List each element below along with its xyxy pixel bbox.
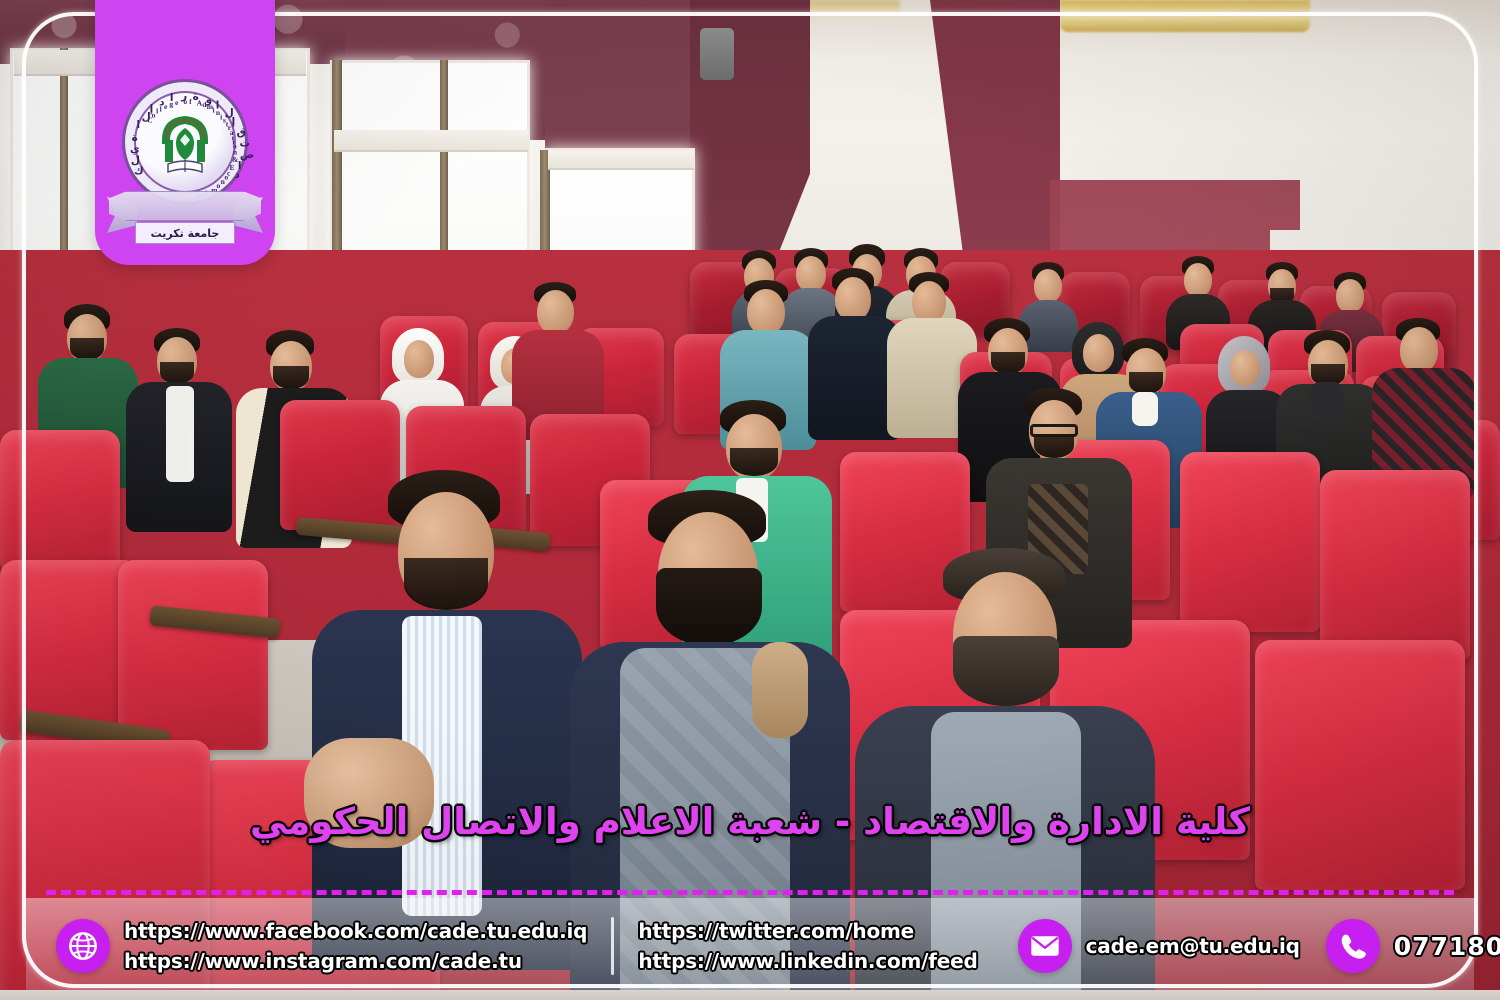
head xyxy=(835,277,871,321)
beard xyxy=(273,366,309,389)
head xyxy=(1400,327,1438,373)
footer-contact-bar: https://www.facebook.com/cade.tu.edu.iq … xyxy=(26,902,1474,990)
window-blind-2 xyxy=(334,130,528,152)
seat xyxy=(118,560,268,750)
facebook-url[interactable]: https://www.facebook.com/cade.tu.edu.iq xyxy=(124,919,587,943)
wall-speaker xyxy=(700,28,734,80)
head xyxy=(747,289,785,335)
collar xyxy=(1132,392,1158,426)
beard xyxy=(1129,372,1163,394)
social-links: https://www.facebook.com/cade.tu.edu.iq … xyxy=(124,919,587,973)
ceiling-light-fixture xyxy=(1060,0,1310,32)
footer-group-email: cade.em@tu.edu.iq xyxy=(1018,919,1300,973)
seat xyxy=(1255,640,1465,890)
seal-english-char: g xyxy=(169,100,173,109)
bottom-strip xyxy=(0,990,1500,1000)
clasped-hands xyxy=(304,738,434,848)
phone-number[interactable]: 07718055128 xyxy=(1394,932,1500,961)
beard xyxy=(1034,434,1074,458)
head xyxy=(1184,263,1212,297)
beard xyxy=(656,568,762,646)
dashed-divider xyxy=(46,890,1454,895)
beard xyxy=(953,636,1059,706)
seat xyxy=(0,430,120,570)
footer-divider-1 xyxy=(611,917,614,975)
footer-group-social: https://www.facebook.com/cade.tu.edu.iq … xyxy=(56,919,587,973)
logo-badge: ك ل ي ة ا ل إ د ا ر ة و ا ل إ ق ت ص ا د xyxy=(95,0,275,265)
head xyxy=(1230,350,1260,386)
beard xyxy=(70,338,104,360)
college-seal: ك ل ي ة ا ل إ د ا ر ة و ا ل إ ق ت ص ا د xyxy=(105,79,265,249)
beard xyxy=(404,558,488,610)
globe-icon[interactable] xyxy=(56,919,110,973)
seat xyxy=(1180,452,1320,632)
seal-english-char: e xyxy=(175,98,178,107)
shirt xyxy=(166,386,194,482)
seal-english-char: o xyxy=(183,97,187,106)
beard xyxy=(160,362,194,384)
head xyxy=(537,290,574,334)
head xyxy=(796,256,826,292)
head xyxy=(1083,334,1114,372)
head xyxy=(912,281,946,323)
turtleneck xyxy=(1310,382,1344,422)
footer-group-phone: 07718055128 xyxy=(1326,919,1500,973)
seal-english-char: n xyxy=(221,177,225,186)
head xyxy=(1336,279,1364,313)
beard xyxy=(991,352,1025,374)
poster-root: ك ل ي ة ا ل إ د ا ر ة و ا ل إ ق ت ص ا د xyxy=(0,0,1500,1000)
twitter-url[interactable]: https://twitter.com/home xyxy=(638,919,977,943)
seat xyxy=(280,400,400,530)
minaret-book-emblem-icon xyxy=(154,110,216,176)
seal-english-char: f xyxy=(189,97,192,106)
ribbon-banner xyxy=(109,191,261,221)
beard xyxy=(730,448,778,476)
footer-group-social-2: https://twitter.com/home https://www.lin… xyxy=(638,919,977,973)
linkedin-url[interactable]: https://www.linkedin.com/feed xyxy=(638,949,977,973)
phone-icon[interactable] xyxy=(1326,919,1380,973)
window-blind-3 xyxy=(548,150,694,170)
seat xyxy=(1320,470,1470,660)
head xyxy=(1034,269,1062,303)
social-links-2: https://twitter.com/home https://www.lin… xyxy=(638,919,977,973)
email-address[interactable]: cade.em@tu.edu.iq xyxy=(1086,934,1300,958)
instagram-url[interactable]: https://www.instagram.com/cade.tu xyxy=(124,949,587,973)
head xyxy=(404,340,434,378)
envelope-icon[interactable] xyxy=(1018,919,1072,973)
fur-collar xyxy=(752,642,808,738)
seal-university-name: جامعة تكريت xyxy=(135,222,235,244)
